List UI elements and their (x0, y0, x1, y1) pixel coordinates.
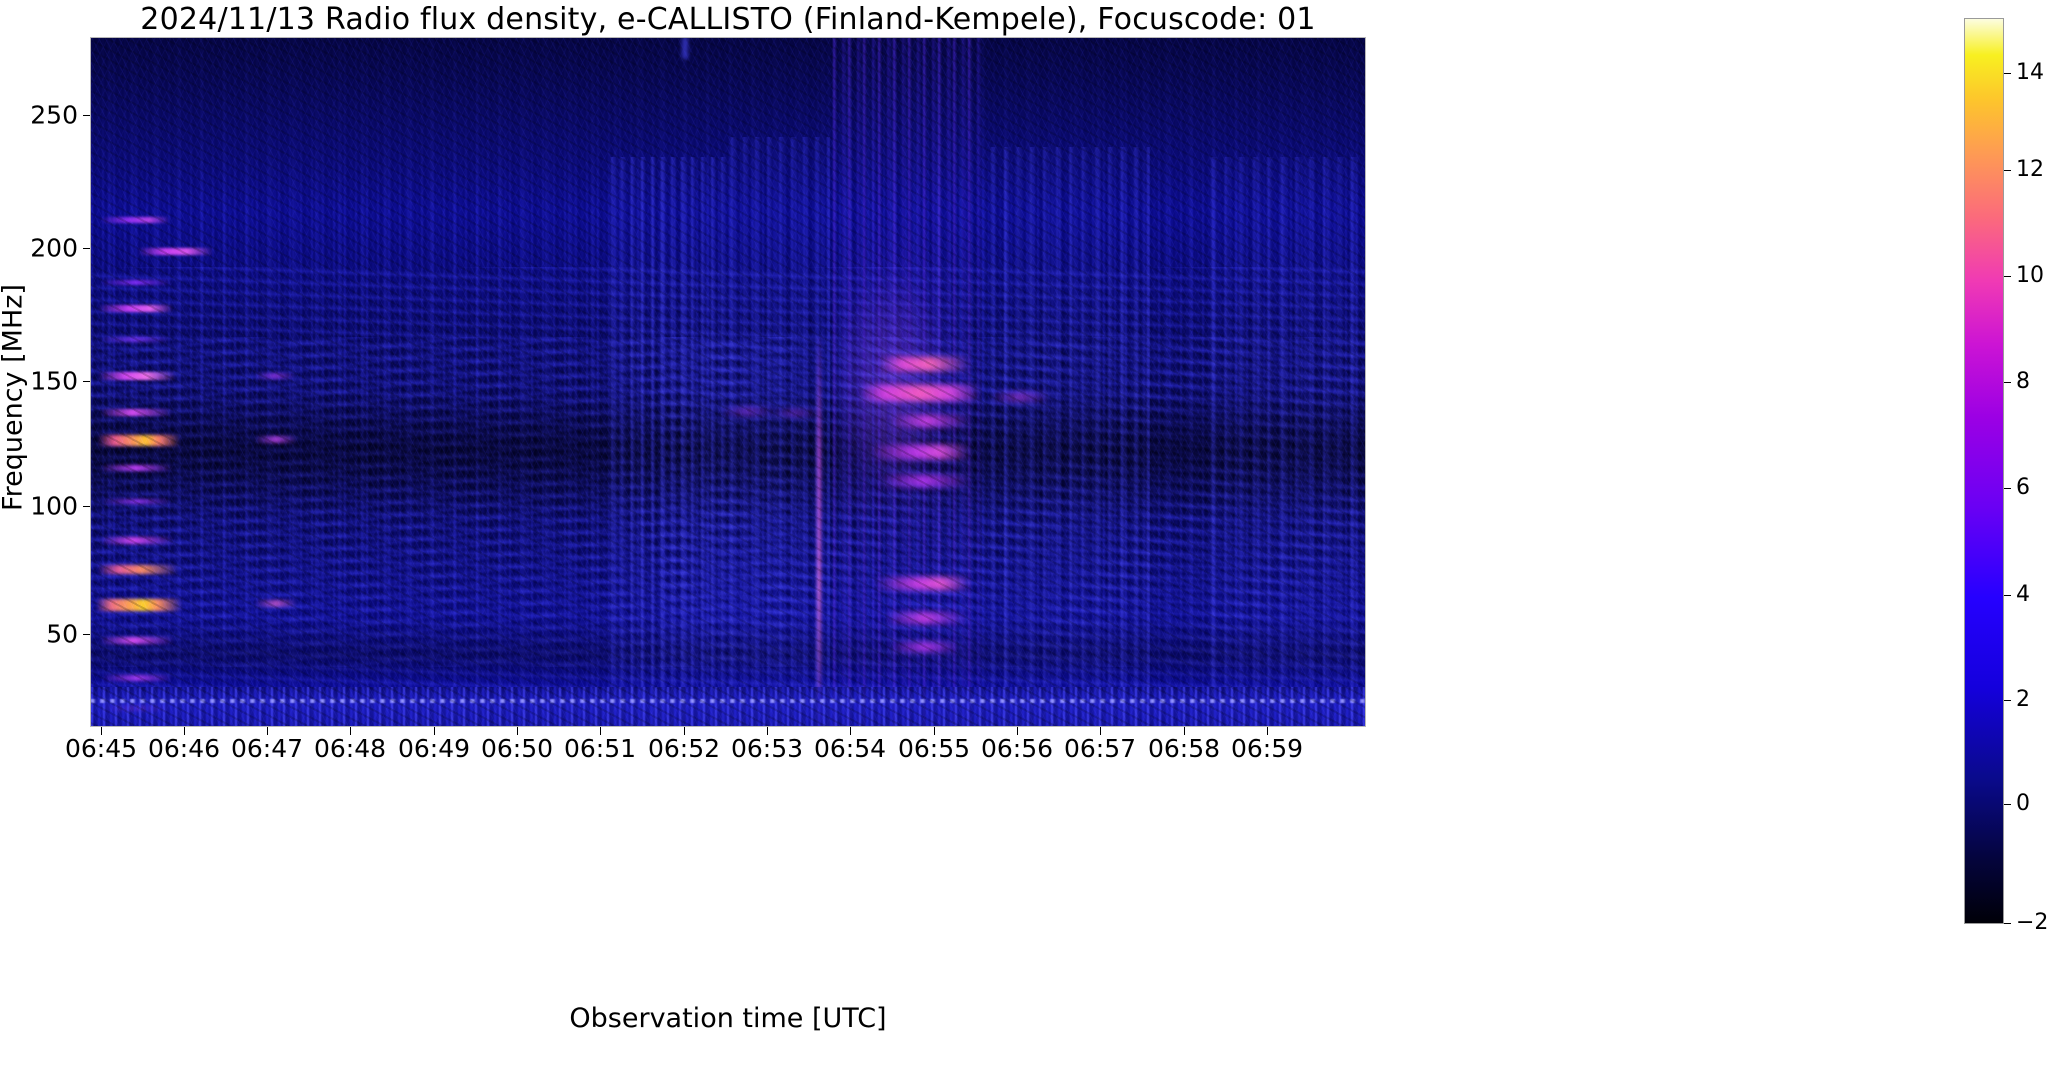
colorbar-tick-label: 10 (2016, 265, 2044, 287)
x-tick-label: 06:57 (1064, 736, 1136, 761)
x-tick-label: 06:58 (1148, 736, 1220, 761)
x-tick-label: 06:49 (398, 736, 470, 761)
x-tick-label: 06:47 (231, 736, 303, 761)
colorbar-tick-mark (2004, 73, 2011, 74)
colorbar-tick-mark (2004, 804, 2011, 805)
x-tick-mark (350, 727, 351, 735)
x-tick-label: 06:52 (648, 736, 720, 761)
y-tick-mark (83, 248, 90, 249)
colorbar-tick-mark (2004, 488, 2011, 489)
x-tick-label: 06:55 (898, 736, 970, 761)
x-tick-label: 06:54 (814, 736, 886, 761)
x-tick-label: 06:48 (314, 736, 386, 761)
x-tick-mark (1184, 727, 1185, 735)
y-axis-label: Frequency [MHz] (0, 53, 29, 743)
x-tick-label: 06:45 (65, 736, 137, 761)
x-tick-label: 06:53 (731, 736, 803, 761)
x-tick-mark (434, 727, 435, 735)
x-tick-mark (101, 727, 102, 735)
spectrogram-axes[interactable] (90, 37, 1366, 727)
x-tick-label: 06:46 (148, 736, 220, 761)
x-tick-mark (1267, 727, 1268, 735)
colorbar-tick-mark (2004, 595, 2011, 596)
colorbar-tick-label: 6 (2016, 477, 2030, 499)
colorbar-tick-mark (2004, 700, 2011, 701)
y-tick-mark (83, 506, 90, 507)
x-tick-mark (767, 727, 768, 735)
x-tick-mark (1017, 727, 1018, 735)
colorbar-tick-label: 8 (2016, 371, 2030, 393)
colorbar-tick-label: 14 (2016, 62, 2044, 84)
figure: 2024/11/13 Radio flux density, e-CALLIST… (0, 0, 2066, 1067)
x-tick-mark (1100, 727, 1101, 735)
colorbar-tick-label: −2 (2016, 912, 2048, 934)
colorbar-tick-label: 4 (2016, 584, 2030, 606)
x-tick-mark (850, 727, 851, 735)
x-tick-mark (600, 727, 601, 735)
x-tick-mark (267, 727, 268, 735)
x-tick-label: 06:56 (981, 736, 1053, 761)
colorbar-tick-label: 0 (2016, 793, 2030, 815)
y-tick-mark (83, 115, 90, 116)
x-tick-mark (517, 727, 518, 735)
colorbar-tick-label: 2 (2016, 689, 2030, 711)
x-tick-mark (184, 727, 185, 735)
x-tick-label: 06:59 (1231, 736, 1303, 761)
colorbar-tick-mark (2004, 170, 2011, 171)
y-tick-mark (83, 381, 90, 382)
x-tick-label: 06:50 (481, 736, 553, 761)
x-axis-label: Observation time [UTC] (90, 1003, 1366, 1034)
colorbar-tick-label: 12 (2016, 159, 2044, 181)
colorbar-tick-mark (2004, 923, 2011, 924)
x-tick-mark (684, 727, 685, 735)
y-tick-mark (83, 634, 90, 635)
colorbar-gradient (1964, 18, 2004, 924)
top-edge-blip (682, 37, 688, 59)
x-tick-mark (934, 727, 935, 735)
spectrogram-dark-speckle (90, 37, 1366, 727)
chart-title: 2024/11/13 Radio flux density, e-CALLIST… (0, 4, 1456, 36)
colorbar-tick-mark (2004, 382, 2011, 383)
colorbar[interactable]: −2 0 2 4 6 8 10 12 14 (1964, 18, 2004, 924)
colorbar-tick-mark (2004, 276, 2011, 277)
x-tick-label: 06:51 (564, 736, 636, 761)
